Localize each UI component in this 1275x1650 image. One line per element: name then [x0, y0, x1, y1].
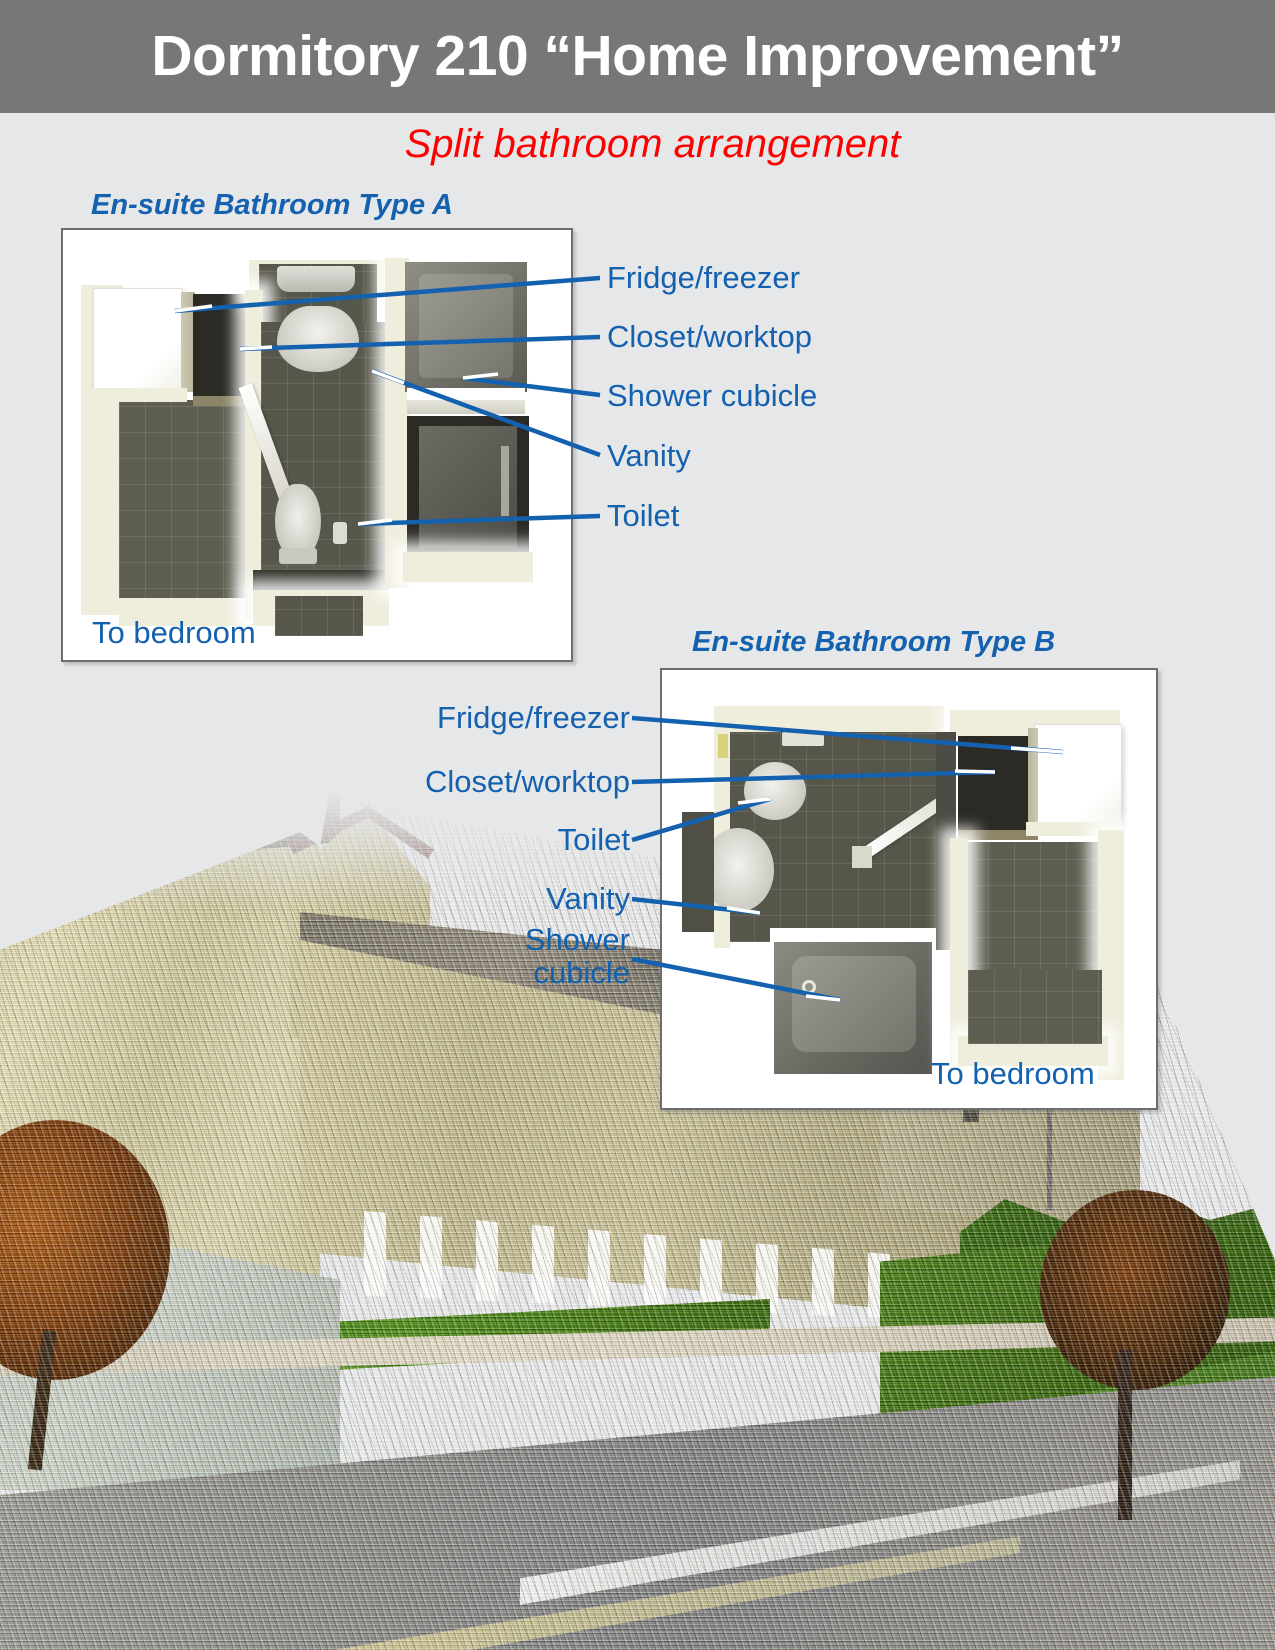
- plan-b-pipe-marker: [718, 734, 728, 758]
- panel-b-callout-vanity: Vanity: [330, 883, 630, 916]
- panel-b-callout-shower-cubicle: Shower cubicle: [330, 924, 630, 990]
- floorplan-render-a: [63, 230, 571, 660]
- panel-b-frame: [660, 668, 1158, 1110]
- plan-b-wall-top: [714, 706, 944, 734]
- panel-a-to-bedroom-label: To bedroom: [92, 617, 256, 648]
- plan-a-cistern: [277, 266, 355, 292]
- page-title: Dormitory 210 “Home Improvement”: [151, 28, 1123, 85]
- plan-b-corridor-wall-left: [950, 838, 968, 1068]
- plan-a-shower-step: [407, 400, 525, 414]
- plan-b-fridge-side: [1028, 728, 1038, 826]
- plan-a-closet-worktop: [193, 294, 249, 400]
- panel-a-title: En-suite Bathroom Type A: [91, 191, 453, 220]
- subtitle: Split bathroom arrangement: [0, 122, 1275, 166]
- plan-a-toilet-base: [279, 548, 317, 564]
- plan-a-toilet: [275, 484, 321, 558]
- plan-b-corridor-floor-lower: [968, 970, 1102, 1044]
- plan-a-vanity: [277, 306, 359, 372]
- plan-b-fridge-freezer: [1034, 724, 1122, 828]
- panel-a-frame: [61, 228, 573, 662]
- panel-a-callout-vanity: Vanity: [607, 440, 691, 473]
- title-bar: Dormitory 210 “Home Improvement”: [0, 0, 1275, 113]
- plan-b-shower-bracket: [852, 846, 872, 868]
- panel-b-title: En-suite Bathroom Type B: [692, 628, 1055, 657]
- panel-b-callout-toilet: Toilet: [330, 824, 630, 857]
- plan-a-shower-tray: [419, 274, 513, 378]
- tree-right-canopy: [1040, 1190, 1230, 1390]
- panel-a-callout-shower-cubicle: Shower cubicle: [607, 380, 817, 413]
- plan-a-floor-left: [119, 400, 245, 615]
- panel-a-callout-closet-worktop: Closet/worktop: [607, 321, 812, 354]
- plan-b-shower-drain: [802, 980, 816, 994]
- plan-b-top-fitting: [782, 732, 824, 746]
- panel-a-callout-fridge-freezer: Fridge/freezer: [607, 262, 800, 295]
- tree-right-trunk: [1118, 1350, 1132, 1520]
- plan-b-closet-worktop: [958, 736, 1034, 834]
- plan-a-fridge-base: [91, 388, 187, 402]
- floorplan-render-b: [662, 670, 1156, 1108]
- panel-b-callout-closet-worktop: Closet/worktop: [330, 766, 630, 799]
- panel-b-to-bedroom-label: To bedroom: [931, 1058, 1095, 1089]
- panel-a-callout-toilet: Toilet: [607, 500, 679, 533]
- plan-b-shower-tray: [792, 956, 916, 1052]
- plan-a-right-rail: [501, 446, 509, 516]
- plan-b-vanity-wall: [682, 812, 714, 932]
- plan-a-exit-floor: [275, 596, 363, 636]
- plan-a-right-sill: [403, 552, 533, 582]
- plan-a-flush-fitting: [333, 522, 347, 544]
- panel-b-callout-fridge-freezer: Fridge/freezer: [330, 702, 630, 735]
- plan-a-fridge-freezer: [93, 288, 183, 393]
- plan-b-toilet: [744, 762, 806, 820]
